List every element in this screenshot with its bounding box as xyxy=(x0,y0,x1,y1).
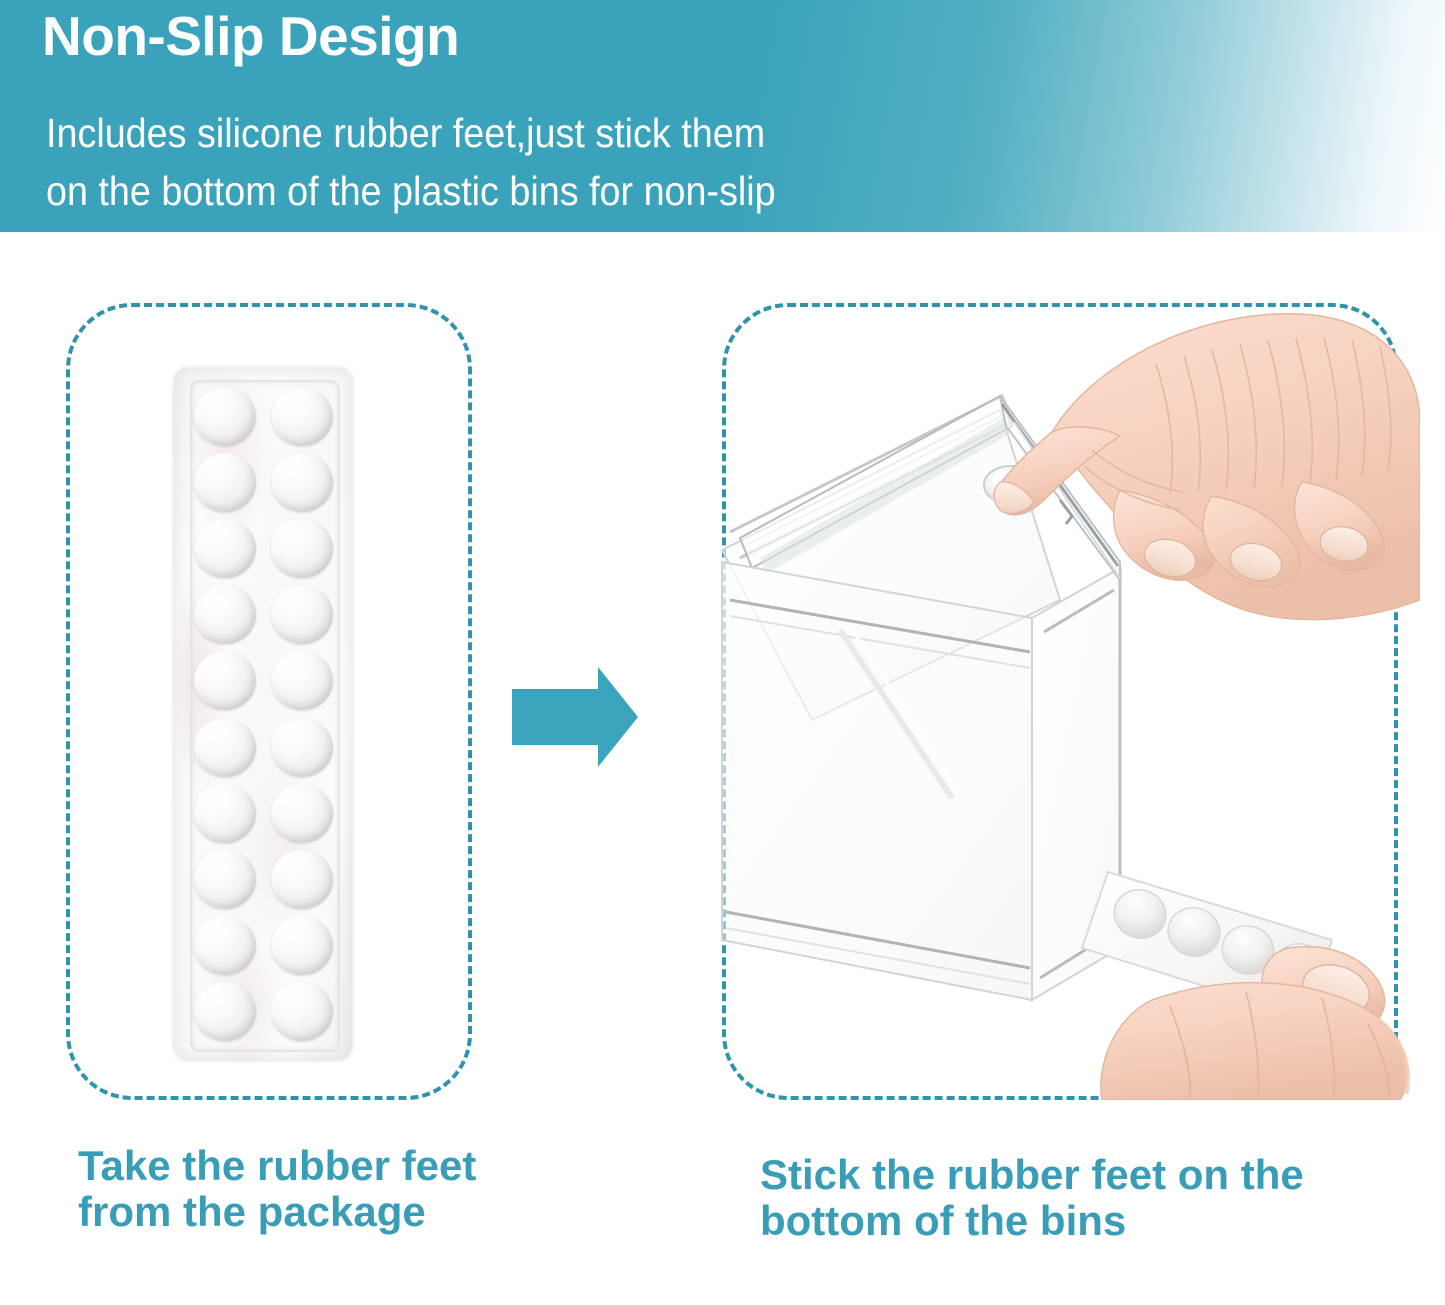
rubber-foot-dome-icon xyxy=(271,453,333,512)
bin-and-hands-image xyxy=(700,300,1420,1100)
rubber-foot-dome-icon xyxy=(194,916,256,975)
rubber-feet-grid xyxy=(188,384,338,1044)
rubber-foot-dome-icon xyxy=(194,982,256,1041)
rubber-foot-dome-icon xyxy=(271,982,333,1041)
caption-left: Take the rubber feet from the package xyxy=(78,1143,498,1235)
rubber-foot-dome-icon xyxy=(194,718,256,777)
clear-acrylic-bin xyxy=(722,396,1120,1000)
rubber-foot-dome-icon xyxy=(271,585,333,644)
rubber-foot-dome-icon xyxy=(194,651,256,710)
rubber-foot-dome-icon xyxy=(271,718,333,777)
caption-right: Stick the rubber feet on the bottom of t… xyxy=(760,1152,1400,1244)
rubber-foot-dome-icon xyxy=(271,916,333,975)
rubber-foot-dome-icon xyxy=(271,850,333,909)
bin-and-hands-illustration xyxy=(700,300,1420,1100)
header-banner: Non-Slip Design Includes silicone rubber… xyxy=(0,0,1445,232)
right-arrow-icon xyxy=(510,665,640,769)
rubber-foot-dome-icon xyxy=(271,651,333,710)
rubber-foot-dome-icon xyxy=(194,387,256,446)
rubber-foot-dome-icon xyxy=(194,453,256,512)
rubber-foot-dome-icon xyxy=(194,585,256,644)
rubber-foot-dome-icon xyxy=(271,519,333,578)
header-subtitle-line-2: on the bottom of the plastic bins for no… xyxy=(46,162,776,220)
rubber-foot-dome-icon xyxy=(194,519,256,578)
upper-hand-pressing xyxy=(994,314,1420,620)
header-subtitle-line-1: Includes silicone rubber feet,just stick… xyxy=(46,104,765,162)
rubber-foot-dome-icon xyxy=(194,784,256,843)
rubber-foot-dome-icon xyxy=(194,850,256,909)
page-title: Non-Slip Design xyxy=(42,6,459,67)
lower-hand-holding-strip xyxy=(1082,872,1408,1100)
step-arrow xyxy=(510,665,640,769)
rubber-foot-dome-icon xyxy=(271,387,333,446)
blister-strip-image xyxy=(168,368,358,1064)
rubber-foot-dome-icon xyxy=(271,784,333,843)
